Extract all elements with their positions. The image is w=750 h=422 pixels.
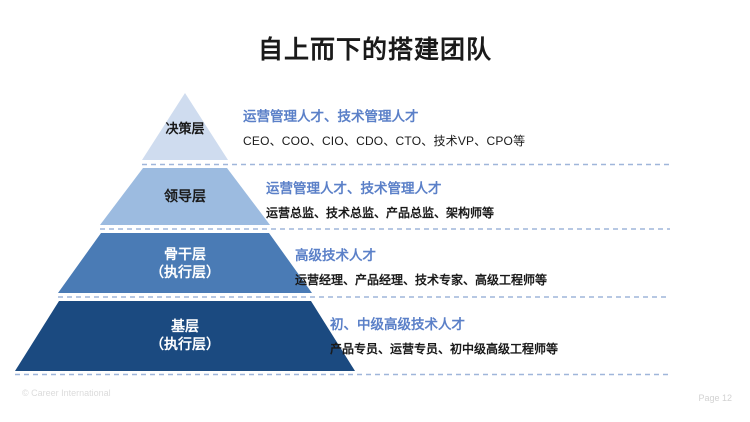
pyramid-tier-4-label: 基层 （执行层） — [100, 318, 270, 353]
copyright-notice: © Career International — [22, 388, 111, 398]
tier-3-description: 高级技术人才 运营经理、产品经理、技术专家、高级工程师等 — [295, 244, 547, 288]
slide-canvas: 自上而下的搭建团队 决策层 领导层 骨干层 （执行层） 基层 （执行层） 运营管… — [0, 0, 750, 422]
tier-2-detail: 运营总监、技术总监、产品总监、架构师等 — [266, 204, 494, 221]
tier-3-heading: 高级技术人才 — [295, 244, 547, 264]
pyramid-tier-1-label: 决策层 — [130, 121, 240, 137]
tier-2-heading: 运营管理人才、技术管理人才 — [266, 177, 494, 197]
tier-4-heading: 初、中级高级技术人才 — [330, 313, 558, 333]
tier-1-detail: CEO、COO、CIO、CDO、CTO、技术VP、CPO等 — [243, 132, 525, 149]
tier-1-description: 运营管理人才、技术管理人才 CEO、COO、CIO、CDO、CTO、技术VP、C… — [243, 105, 525, 149]
tier-3-detail: 运营经理、产品经理、技术专家、高级工程师等 — [295, 271, 547, 288]
pyramid-tier-3-label: 骨干层 （执行层） — [110, 246, 260, 281]
page-title: 自上而下的搭建团队 — [0, 30, 750, 66]
pyramid-tier-2-label: 领导层 — [120, 188, 250, 206]
tier-4-description: 初、中级高级技术人才 产品专员、运营专员、初中级高级工程师等 — [330, 313, 558, 357]
tier-4-detail: 产品专员、运营专员、初中级高级工程师等 — [330, 340, 558, 357]
tier-1-heading: 运营管理人才、技术管理人才 — [243, 105, 525, 125]
tier-2-description: 运营管理人才、技术管理人才 运营总监、技术总监、产品总监、架构师等 — [266, 177, 494, 221]
page-number: Page 12 — [698, 393, 732, 403]
